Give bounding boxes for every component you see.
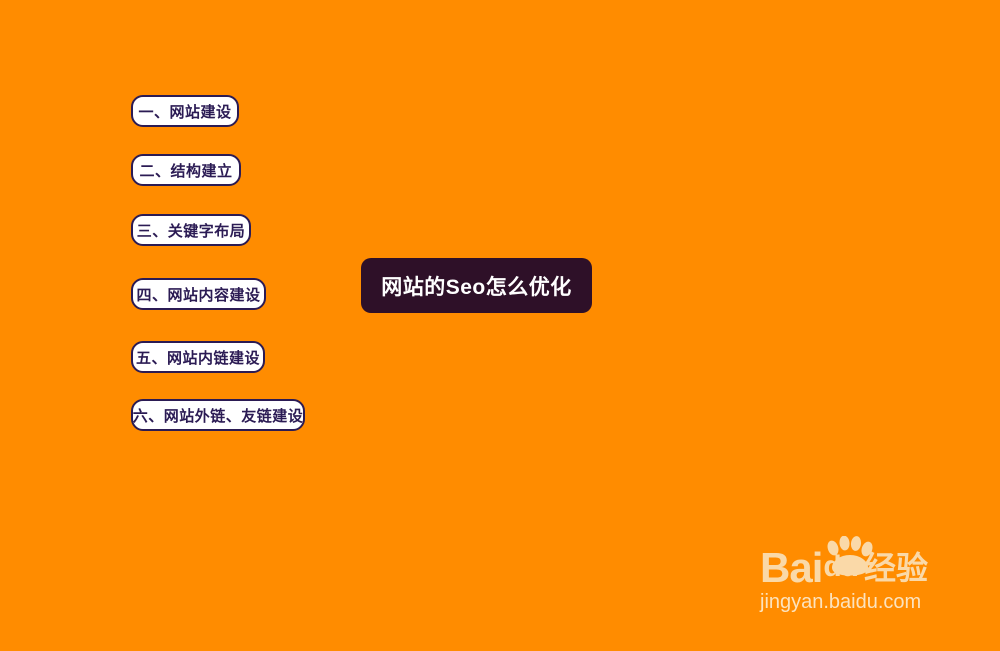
central-topic-node[interactable]: 网站的Seo怎么优化: [361, 258, 592, 313]
branch-node-1[interactable]: 一、网站建设: [131, 95, 239, 127]
central-topic-label: 网站的Seo怎么优化: [381, 271, 572, 301]
mindmap-canvas: 一、网站建设 二、结构建立 三、关键字布局 四、网站内容建设 五、网站内链建设 …: [0, 0, 1000, 651]
branch-node-5-label: 五、网站内链建设: [136, 347, 260, 368]
branch-node-4[interactable]: 四、网站内容建设: [131, 278, 266, 310]
branch-node-5[interactable]: 五、网站内链建设: [131, 341, 265, 373]
watermark-brand-bai: Bai: [760, 548, 822, 588]
watermark-logo-row: Bai du 经验: [760, 538, 960, 588]
branch-node-6[interactable]: 六、网站外链、友链建设: [131, 399, 305, 431]
branch-node-3[interactable]: 三、关键字布局: [131, 214, 251, 246]
branch-node-4-label: 四、网站内容建设: [137, 284, 261, 305]
paw-print-icon: [822, 536, 874, 576]
branch-node-2-label: 二、结构建立: [140, 160, 233, 181]
watermark-url: jingyan.baidu.com: [760, 591, 960, 614]
branch-node-2[interactable]: 二、结构建立: [131, 154, 241, 186]
branch-node-6-label: 六、网站外链、友链建设: [133, 405, 304, 426]
branch-node-1-label: 一、网站建设: [139, 101, 232, 122]
branch-node-3-label: 三、关键字布局: [137, 220, 246, 241]
baidu-jingyan-watermark: Bai du 经验 jingyan.baidu.com: [760, 538, 960, 618]
